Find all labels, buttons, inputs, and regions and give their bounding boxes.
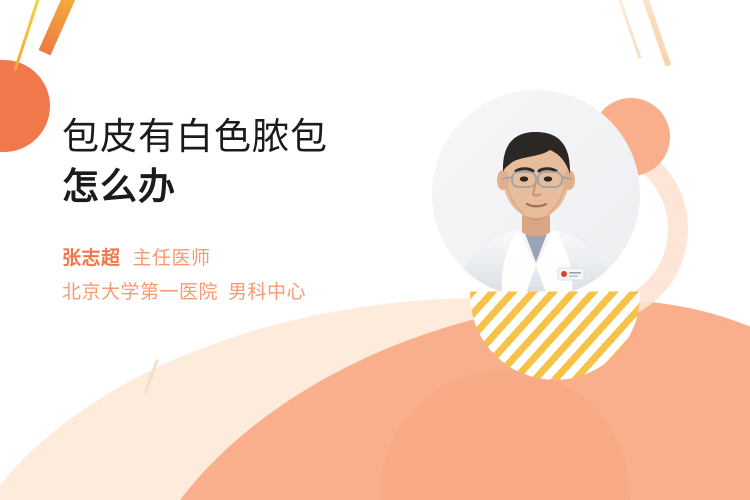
top-right-stripe-a-icon bbox=[634, 0, 671, 67]
doctor-identity-row: 张志超主任医师 bbox=[62, 242, 392, 276]
avatar-striped-arc-decoration bbox=[470, 210, 640, 380]
top-left-thin-stripe-icon bbox=[14, 0, 49, 71]
bottom-wave-lobe-shape bbox=[380, 370, 630, 500]
doctor-department: 男科中心 bbox=[228, 282, 306, 303]
text-content-block: 包皮有白色脓包 怎么办 张志超主任医师 北京大学第一医院男科中心 bbox=[62, 112, 392, 310]
title-line-1: 包皮有白色脓包 bbox=[62, 116, 328, 157]
doctor-avatar-area bbox=[432, 82, 682, 338]
page-title: 包皮有白色脓包 怎么办 bbox=[62, 112, 392, 212]
doctor-hospital: 北京大学第一医院 bbox=[62, 282, 218, 303]
doctor-info-block: 张志超主任医师 北京大学第一医院男科中心 bbox=[62, 242, 392, 310]
doctor-affiliation-row: 北京大学第一医院男科中心 bbox=[62, 276, 392, 310]
video-thumbnail-card: 包皮有白色脓包 怎么办 张志超主任医师 北京大学第一医院男科中心 bbox=[0, 0, 750, 500]
title-line-2: 怎么办 bbox=[62, 166, 176, 207]
doctor-name: 张志超 bbox=[62, 248, 121, 269]
wave-hairline-accent bbox=[144, 359, 159, 394]
left-orange-circle-icon bbox=[0, 60, 50, 152]
doctor-title: 主任医师 bbox=[133, 248, 211, 269]
top-left-thick-stripe-icon bbox=[39, 0, 88, 55]
top-right-stripe-b-icon bbox=[611, 0, 641, 58]
